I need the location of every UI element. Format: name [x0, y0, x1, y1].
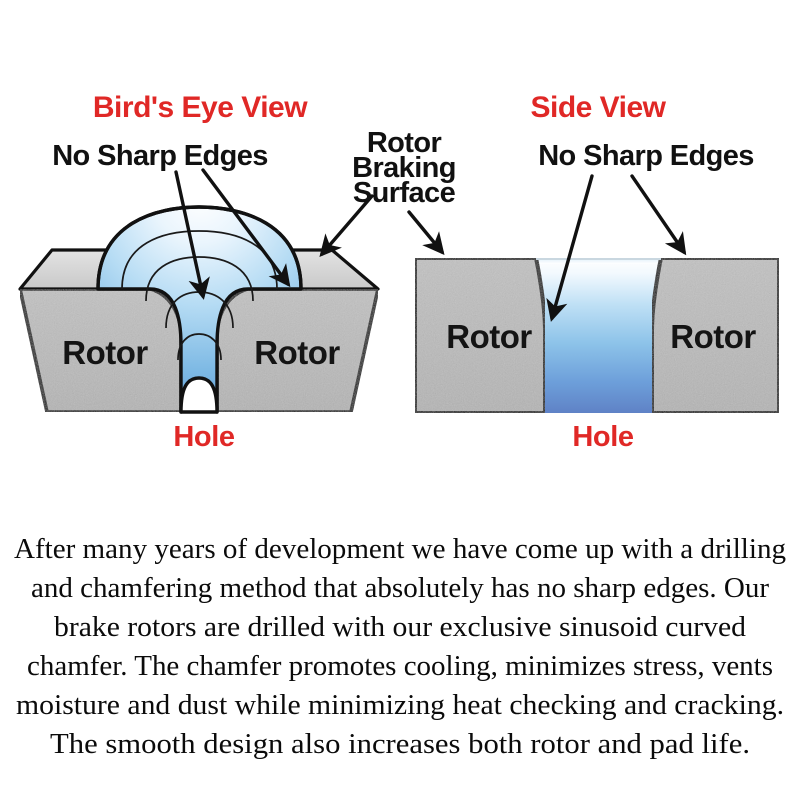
birds-eye-title: Bird's Eye View	[93, 91, 308, 124]
side-view-block: Rotor Rotor	[415, 258, 779, 413]
birds-eye-no-sharp-edges-label: No Sharp Edges	[52, 140, 268, 172]
birds-eye-hole-label: Hole	[173, 421, 235, 453]
paragraph-line: and chamfering method that absolutely ha…	[31, 573, 770, 604]
birds-eye-hole-opening	[181, 378, 217, 412]
side-view-hole-label: Hole	[572, 421, 634, 453]
rotor-chamfer-diagram: Rotor Rotor Rotor Rotor	[0, 0, 800, 800]
birds-eye-rotor-label-right: Rotor	[254, 334, 340, 371]
arrow-no-sharp-edges-side-right	[632, 176, 684, 252]
birds-eye-block: Rotor Rotor	[20, 207, 378, 412]
description-paragraph: After many years of development we have …	[14, 534, 786, 760]
paragraph-line: moisture and dust while minimizing heat …	[16, 690, 784, 721]
birds-eye-rotor-label-left: Rotor	[62, 334, 148, 371]
paragraph-line: chamfer. The chamfer promotes cooling, m…	[27, 651, 773, 682]
paragraph-line: The smooth design also increases both ro…	[50, 729, 750, 760]
side-view-rotor-label-left: Rotor	[446, 318, 532, 355]
arrow-rotor-braking-surface-sideview	[409, 212, 442, 252]
paragraph-line: brake rotors are drilled with our exclus…	[54, 612, 746, 643]
diagram-page: Rotor Rotor Rotor Rotor	[0, 0, 800, 800]
side-view-rotor-label-right: Rotor	[670, 318, 756, 355]
side-view-no-sharp-edges-label: No Sharp Edges	[538, 140, 754, 172]
paragraph-line: After many years of development we have …	[14, 534, 786, 565]
side-view-title: Side View	[530, 91, 666, 124]
rotor-braking-surface-line-3: Surface	[353, 177, 456, 209]
